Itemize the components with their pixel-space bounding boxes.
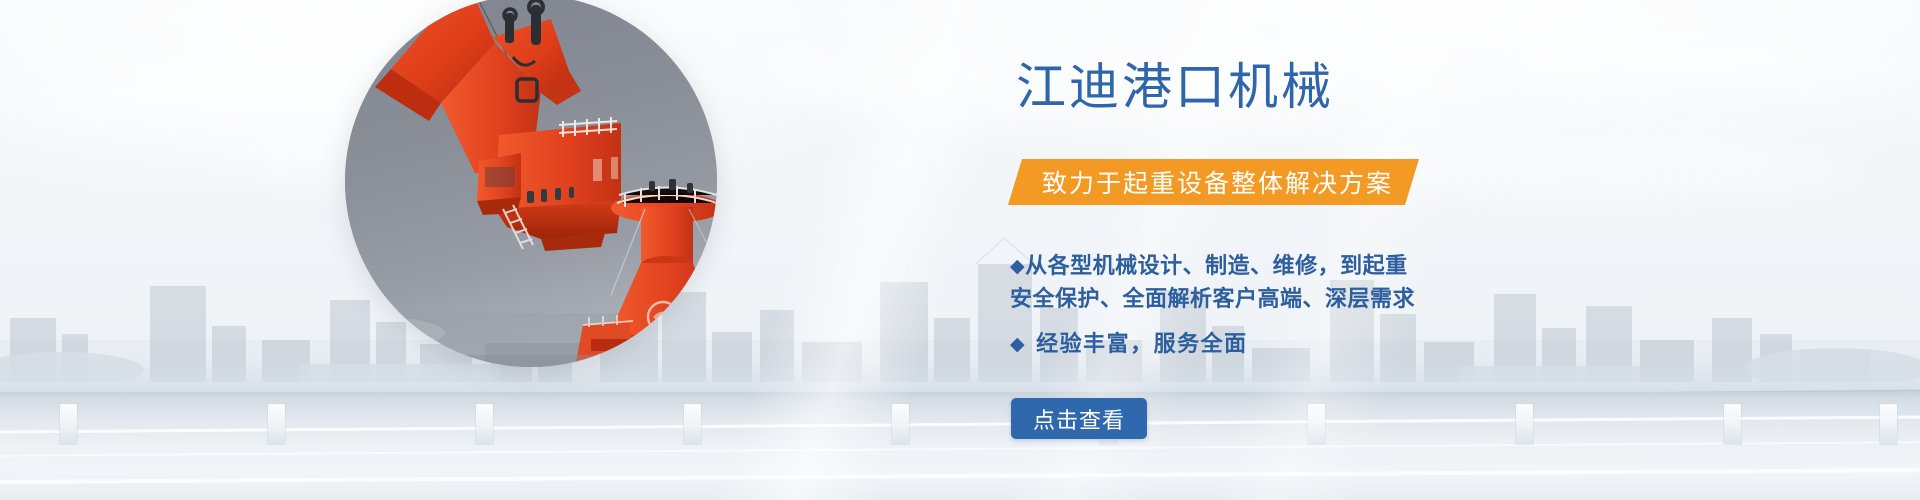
hero-banner: 江迪港口机械 致力于起重设备整体解决方案 ◆从各型机械设计、制造、维修，到起重 … — [0, 0, 1920, 500]
port-crane-photo — [345, 0, 717, 367]
tagline-ribbon: 致力于起重设备整体解决方案 — [1008, 159, 1419, 205]
page-title: 江迪港口机械 — [1016, 62, 1334, 112]
feature-bullet-2-text: 经验丰富，服务全面 — [1036, 331, 1248, 356]
click-to-view-button[interactable]: 点击查看 — [1011, 398, 1147, 439]
diamond-bullet-icon: ◆ — [1010, 334, 1026, 355]
diamond-bullet-icon: ◆ — [1010, 256, 1025, 277]
feature-bullet-2-line-1: ◆经验丰富，服务全面 — [1010, 328, 1248, 361]
feature-bullet-2: ◆经验丰富，服务全面 — [1010, 328, 1248, 361]
feature-bullet-1: ◆从各型机械设计、制造、维修，到起重 安全保护、全面解析客户高端、深层需求 — [1010, 250, 1470, 315]
feature-bullet-1-text-1: 从各型机械设计、制造、维修，到起重 — [1025, 253, 1408, 278]
banner-content: 江迪港口机械 致力于起重设备整体解决方案 ◆从各型机械设计、制造、维修，到起重 … — [1008, 0, 1708, 500]
feature-bullet-1-line-1: ◆从各型机械设计、制造、维修，到起重 — [1010, 250, 1470, 283]
feature-bullet-1-line-2: 安全保护、全面解析客户高端、深层需求 — [1010, 283, 1470, 315]
